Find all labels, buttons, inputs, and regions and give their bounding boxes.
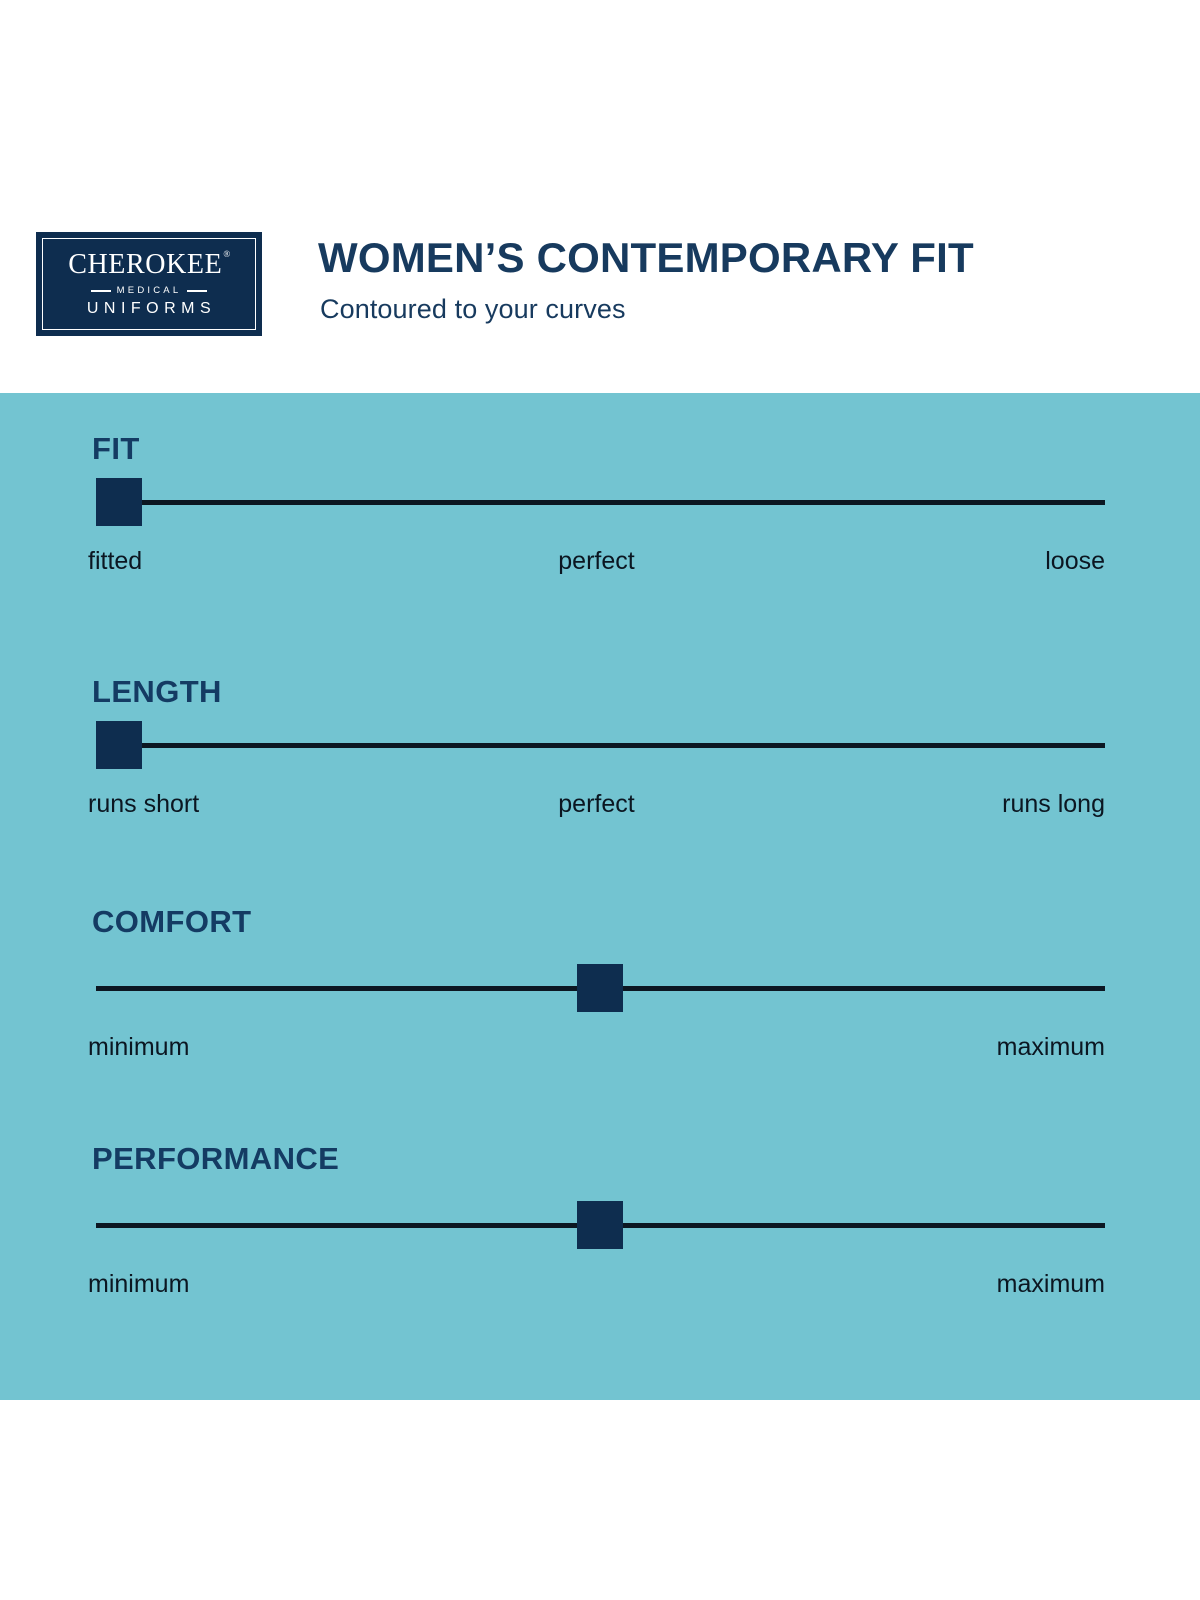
logo-brand-name: CHEROKEE® [68,251,230,279]
slider-label-fit-center: perfect [558,546,634,576]
fit-guide-page: CHEROKEE® MEDICAL UNIFORMS WOMEN’S CONTE… [0,0,1200,1600]
slider-track-length[interactable] [96,743,1105,748]
logo-brand-text: CHEROKEE [68,249,222,280]
logo-inner-border: CHEROKEE® MEDICAL UNIFORMS [42,238,256,330]
title-block: WOMEN’S CONTEMPORARY FIT Contoured to yo… [318,236,974,325]
slider-track-fit[interactable] [96,500,1105,505]
logo-medical-text: MEDICAL [117,286,182,296]
slider-label-performance-right: maximum [997,1269,1105,1299]
slider-scale-labels-length: runs short perfect runs long [88,789,1105,819]
slider-group-performance: PERFORMANCE minimum maximum [0,1143,1200,1343]
slider-title-fit: FIT [92,433,140,464]
slider-thumb-length[interactable] [96,721,142,769]
slider-scale-labels-fit: fitted perfect loose [88,546,1105,576]
slider-thumb-comfort[interactable] [577,964,623,1012]
logo-rule-left-icon [91,290,111,292]
slider-label-fit-left: fitted [88,546,142,576]
slider-label-comfort-right: maximum [997,1032,1105,1062]
slider-title-length: LENGTH [92,676,222,707]
logo-rule-right-icon [187,290,207,292]
logo-uniforms-text: UNIFORMS [82,301,216,317]
slider-group-fit: FIT fitted perfect loose [0,433,1200,633]
slider-group-comfort: COMFORT minimum maximum [0,906,1200,1106]
slider-label-length-left: runs short [88,789,199,819]
slider-label-length-center: perfect [558,789,634,819]
slider-scale-labels-comfort: minimum maximum [88,1032,1105,1062]
registered-trademark-icon: ® [223,249,230,259]
slider-thumb-performance[interactable] [577,1201,623,1249]
slider-thumb-fit[interactable] [96,478,142,526]
slider-scale-labels-performance: minimum maximum [88,1269,1105,1299]
slider-label-fit-right: loose [1045,546,1105,576]
header: CHEROKEE® MEDICAL UNIFORMS WOMEN’S CONTE… [0,0,1200,393]
page-title: WOMEN’S CONTEMPORARY FIT [318,236,974,280]
page-subtitle: Contoured to your curves [320,294,974,325]
fit-scales-panel: FIT fitted perfect loose LENGTH runs sho… [0,393,1200,1400]
slider-label-comfort-left: minimum [88,1032,189,1062]
slider-title-performance: PERFORMANCE [92,1143,339,1174]
slider-label-performance-left: minimum [88,1269,189,1299]
cherokee-medical-uniforms-logo: CHEROKEE® MEDICAL UNIFORMS [36,232,262,336]
slider-label-length-right: runs long [1002,789,1105,819]
slider-group-length: LENGTH runs short perfect runs long [0,676,1200,876]
logo-medical-row: MEDICAL [91,286,208,296]
slider-title-comfort: COMFORT [92,906,252,937]
